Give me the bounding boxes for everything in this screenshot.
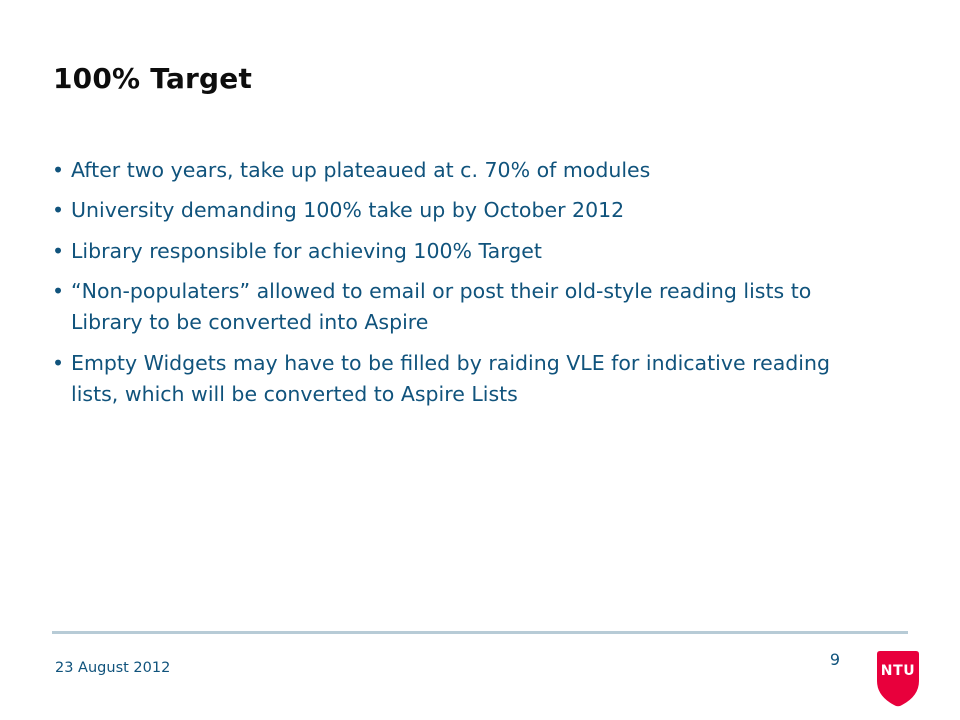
list-item-text: After two years, take up plateaued at c.…	[71, 155, 880, 186]
list-item-text: “Non-populaters” allowed to email or pos…	[71, 276, 880, 339]
page-number: 9	[826, 650, 844, 669]
list-item-text: Empty Widgets may have to be filled by r…	[71, 348, 880, 411]
list-item-text: University demanding 100% take up by Oct…	[71, 195, 880, 226]
bullet-marker-icon: •	[52, 348, 66, 379]
list-item: • Empty Widgets may have to be filled by…	[50, 348, 880, 411]
list-item: • “Non-populaters” allowed to email or p…	[50, 276, 880, 339]
footer-divider	[52, 631, 908, 634]
bullet-list: • After two years, take up plateaued at …	[50, 155, 880, 411]
bullet-marker-icon: •	[52, 195, 66, 226]
footer-date: 23 August 2012	[55, 660, 170, 676]
ntu-shield-logo: NTU	[873, 650, 923, 708]
list-item: • Library responsible for achieving 100%…	[50, 236, 880, 267]
list-item-text: Library responsible for achieving 100% T…	[71, 236, 880, 267]
bullet-marker-icon: •	[52, 155, 66, 186]
page-title: 100% Target	[53, 62, 252, 96]
list-item: • University demanding 100% take up by O…	[50, 195, 880, 226]
list-item: • After two years, take up plateaued at …	[50, 155, 880, 186]
bullet-marker-icon: •	[52, 276, 66, 307]
shield-icon	[873, 650, 923, 708]
bullet-marker-icon: •	[52, 236, 66, 267]
slide-canvas: 100% Target • After two years, take up p…	[0, 0, 960, 720]
